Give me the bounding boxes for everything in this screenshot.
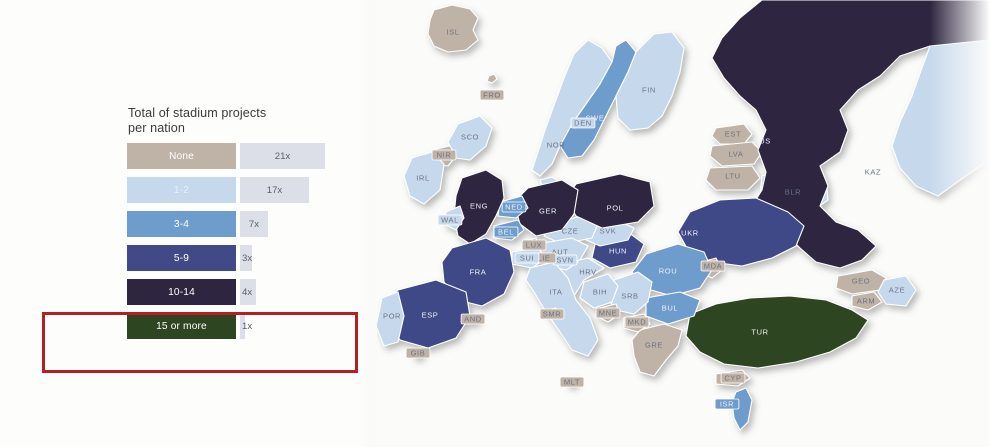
panel-edge-fade [360,0,377,447]
legend-count-label: 4x [242,287,252,298]
legend-row[interactable]: 10-144x [127,279,357,305]
legend-count-bar: 21x [240,143,325,169]
legend-swatch[interactable]: 1-2 [127,177,236,203]
legend-row[interactable]: 15 or more1x [127,313,357,339]
legend-count-label: 7x [249,219,259,230]
legend-row[interactable]: None21x [127,143,357,169]
legend-row[interactable]: 3-47x [127,211,357,237]
legend-count-bar: 1x [240,313,245,339]
legend-count-bar: 4x [240,279,256,305]
legend-swatch[interactable]: None [127,143,236,169]
map-country-isl[interactable] [428,5,478,52]
legend-row[interactable]: 5-93x [127,245,357,271]
map-label-box-nir[interactable] [432,150,456,160]
map-label-box-fro[interactable] [480,90,504,100]
legend-count-bar: 17x [240,177,309,203]
legend-title: Total of stadium projects per nation [128,106,318,135]
map-label-box-ned[interactable] [502,202,526,212]
legend-row-list: None21x1-217x3-47x5-93x10-144x15 or more… [127,143,357,347]
legend-count-label: 1x [242,321,252,332]
map-label-box-den[interactable] [571,118,595,128]
legend-swatch[interactable]: 5-9 [127,245,236,271]
map-country-lva[interactable] [710,142,762,166]
map-label-box-cyp[interactable] [721,373,745,383]
map-label-box-mne[interactable] [596,308,620,318]
legend-swatch[interactable]: 3-4 [127,211,236,237]
europe-choropleth-map: ISLFRONORSWEFINDENESTLVALTUBLRRUSKAZGEOA… [377,0,989,447]
legend-count-bar: 3x [240,245,252,271]
map-right-fade [930,0,989,447]
choropleth-map-panel: ISLFRONORSWEFINDENESTLVALTUBLRRUSKAZGEOA… [377,0,989,447]
screenshot-root: Total of stadium projects per nation Non… [0,0,989,447]
legend-panel: Total of stadium projects per nation Non… [0,0,377,447]
map-label-box-sui[interactable] [515,253,539,263]
map-label-box-gib[interactable] [406,348,430,358]
legend-count-bar: 7x [240,211,268,237]
legend-count-label: 21x [275,151,290,162]
map-label-box-wal[interactable] [438,215,462,225]
map-label-box-mlt[interactable] [560,377,584,387]
legend-swatch[interactable]: 15 or more [127,313,236,339]
map-label-box-lux[interactable] [522,240,546,250]
legend-count-label: 3x [242,253,252,264]
legend-count-label: 17x [267,185,282,196]
map-label-box-svn[interactable] [553,255,577,265]
legend-row[interactable]: 1-217x [127,177,357,203]
legend-swatch[interactable]: 10-14 [127,279,236,305]
map-label-box-mda[interactable] [701,261,725,271]
map-label-box-bel[interactable] [494,227,518,237]
map-country-ltu[interactable] [706,166,760,190]
map-label-box-smr[interactable] [540,309,564,319]
map-label-box-mkd[interactable] [625,317,649,327]
map-label-box-isr[interactable] [715,399,739,409]
map-label-box-and[interactable] [461,314,485,324]
